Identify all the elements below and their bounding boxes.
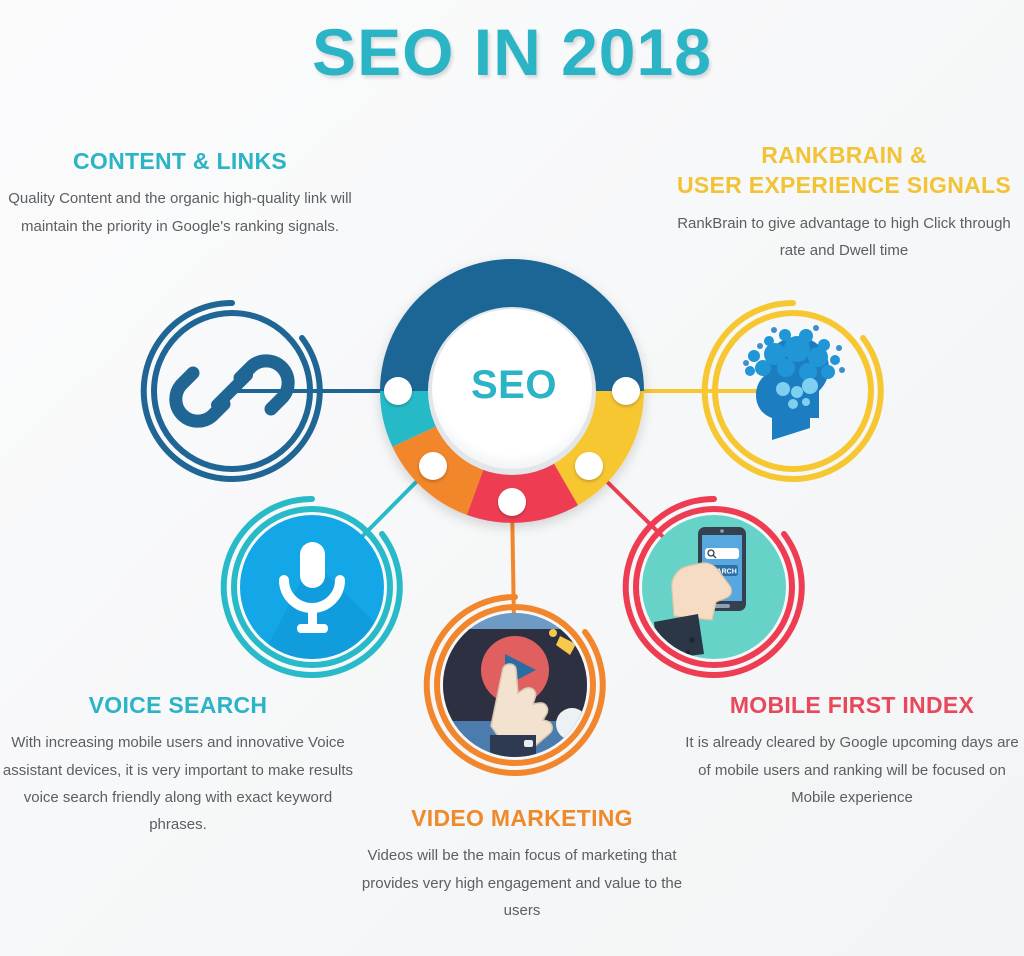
node-dot-rankbrain[interactable] [612,377,640,405]
section-body-video-marketing: Videos will be the main focus of marketi… [352,842,692,924]
node-dot-content-links[interactable] [384,377,412,405]
video-play-hand-icon [443,613,588,757]
icon-circle-content-links[interactable] [144,303,320,479]
section-mobile-first-index: MOBILE FIRST INDEX It is already cleared… [680,690,1024,811]
node-dot-video-marketing[interactable] [498,488,526,516]
brain-head-icon [743,325,845,440]
section-heading-content-links: CONTENT & LINKS [0,146,360,176]
center-label: SEO [447,363,581,408]
section-heading-rankbrain: RANKBRAIN & USER EXPERIENCE SIGNALS [664,140,1024,201]
section-body-rankbrain: RankBrain to give advantage to high Clic… [664,210,1024,265]
icon-circle-mobile-first[interactable]: SEARCH [626,499,802,675]
infographic-canvas: SEO IN 2018 [0,0,1024,956]
section-body-mobile-first-index: It is already cleared by Google upcoming… [680,729,1024,811]
section-video-marketing: VIDEO MARKETING Videos will be the main … [352,803,692,924]
section-voice-search: VOICE SEARCH With increasing mobile user… [0,690,356,839]
section-heading-voice-search: VOICE SEARCH [0,690,356,720]
section-body-content-links: Quality Content and the organic high-qua… [0,185,360,240]
node-dot-mobile-first[interactable] [575,452,603,480]
section-heading-video-marketing: VIDEO MARKETING [352,803,692,833]
section-content-links: CONTENT & LINKS Quality Content and the … [0,146,360,240]
icon-circle-video-marketing[interactable] [427,597,603,773]
heading-line-1: RANKBRAIN & [761,142,927,168]
section-body-voice-search: With increasing mobile users and innovat… [0,729,356,838]
section-rankbrain: RANKBRAIN & USER EXPERIENCE SIGNALS Rank… [664,140,1024,264]
node-dot-voice-search[interactable] [419,452,447,480]
heading-line-2: USER EXPERIENCE SIGNALS [677,172,1011,198]
section-heading-mobile-first-index: MOBILE FIRST INDEX [680,690,1024,720]
